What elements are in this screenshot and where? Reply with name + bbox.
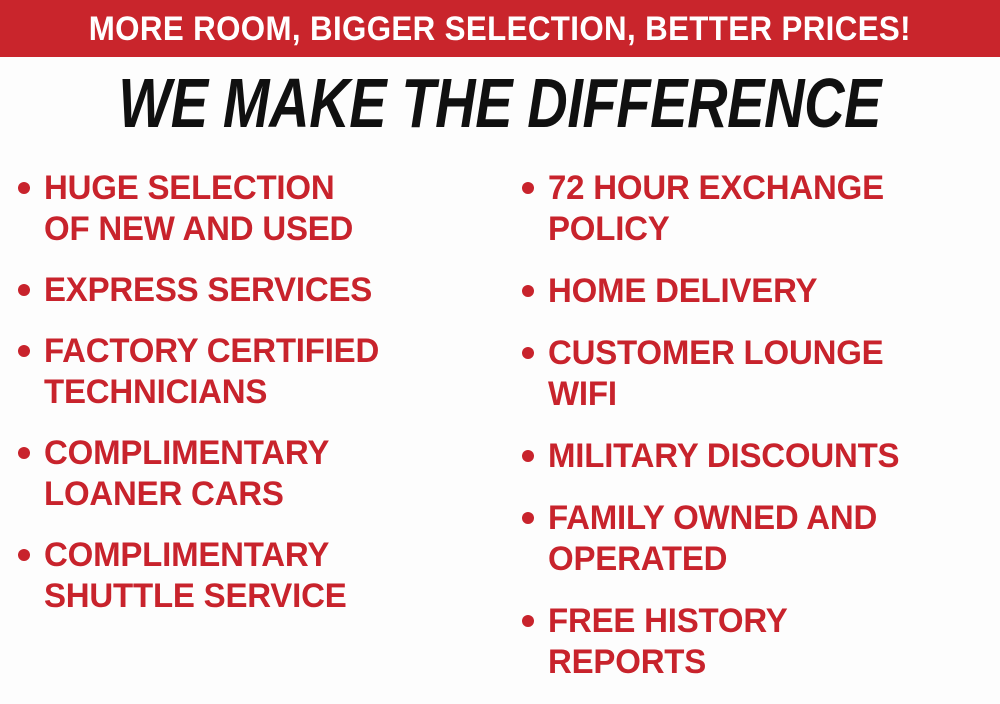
list-item: HUGE SELECTION OF NEW AND USED — [18, 168, 500, 250]
list-item: MILITARY DISCOUNTS — [522, 436, 1000, 477]
list-item: 72 HOUR EXCHANGE POLICY — [522, 168, 1000, 250]
list-item-label: FREE HISTORY REPORTS — [548, 601, 788, 683]
list-item: CUSTOMER LOUNGE WIFI — [522, 333, 1000, 415]
list-item-label: EXPRESS SERVICES — [44, 270, 372, 311]
list-item-label: COMPLIMENTARY LOANER CARS — [44, 433, 329, 515]
list-item: FREE HISTORY REPORTS — [522, 601, 1000, 683]
list-item-label: FACTORY CERTIFIED TECHNICIANS — [44, 331, 379, 413]
list-item: COMPLIMENTARY SHUTTLE SERVICE — [18, 535, 500, 617]
bullet-dot-icon — [18, 182, 30, 194]
headline-container: WE MAKE THE DIFFERENCE — [0, 64, 1000, 142]
list-item: HOME DELIVERY — [522, 271, 1000, 312]
list-item-label: COMPLIMENTARY SHUTTLE SERVICE — [44, 535, 347, 617]
benefits-column-right: 72 HOUR EXCHANGE POLICY HOME DELIVERY CU… — [500, 160, 1000, 704]
bullet-dot-icon — [522, 450, 534, 462]
list-item: FAMILY OWNED AND OPERATED — [522, 498, 1000, 580]
top-banner: MORE ROOM, BIGGER SELECTION, BETTER PRIC… — [0, 0, 1000, 57]
list-item-label: MILITARY DISCOUNTS — [548, 436, 899, 477]
bullet-dot-icon — [522, 615, 534, 627]
list-item: FACTORY CERTIFIED TECHNICIANS — [18, 331, 500, 413]
promo-poster: MORE ROOM, BIGGER SELECTION, BETTER PRIC… — [0, 0, 1000, 694]
list-item: COMPLIMENTARY LOANER CARS — [18, 433, 500, 515]
bullet-dot-icon — [522, 347, 534, 359]
bullet-dot-icon — [522, 285, 534, 297]
benefits-columns: HUGE SELECTION OF NEW AND USED EXPRESS S… — [0, 160, 1000, 694]
list-item-label: CUSTOMER LOUNGE WIFI — [548, 333, 883, 415]
list-item-label: 72 HOUR EXCHANGE POLICY — [548, 168, 884, 250]
benefits-column-left: HUGE SELECTION OF NEW AND USED EXPRESS S… — [0, 160, 500, 637]
list-item: EXPRESS SERVICES — [18, 270, 500, 311]
list-item-label: FAMILY OWNED AND OPERATED — [548, 498, 877, 580]
bullet-dot-icon — [18, 345, 30, 357]
list-item-label: HUGE SELECTION OF NEW AND USED — [44, 168, 353, 250]
banner-headline-text: MORE ROOM, BIGGER SELECTION, BETTER PRIC… — [89, 12, 911, 46]
bullet-dot-icon — [522, 512, 534, 524]
page-title: WE MAKE THE DIFFERENCE — [119, 68, 882, 138]
list-item-label: HOME DELIVERY — [548, 271, 817, 312]
bullet-dot-icon — [18, 549, 30, 561]
bullet-dot-icon — [522, 182, 534, 194]
bullet-dot-icon — [18, 284, 30, 296]
bullet-dot-icon — [18, 447, 30, 459]
